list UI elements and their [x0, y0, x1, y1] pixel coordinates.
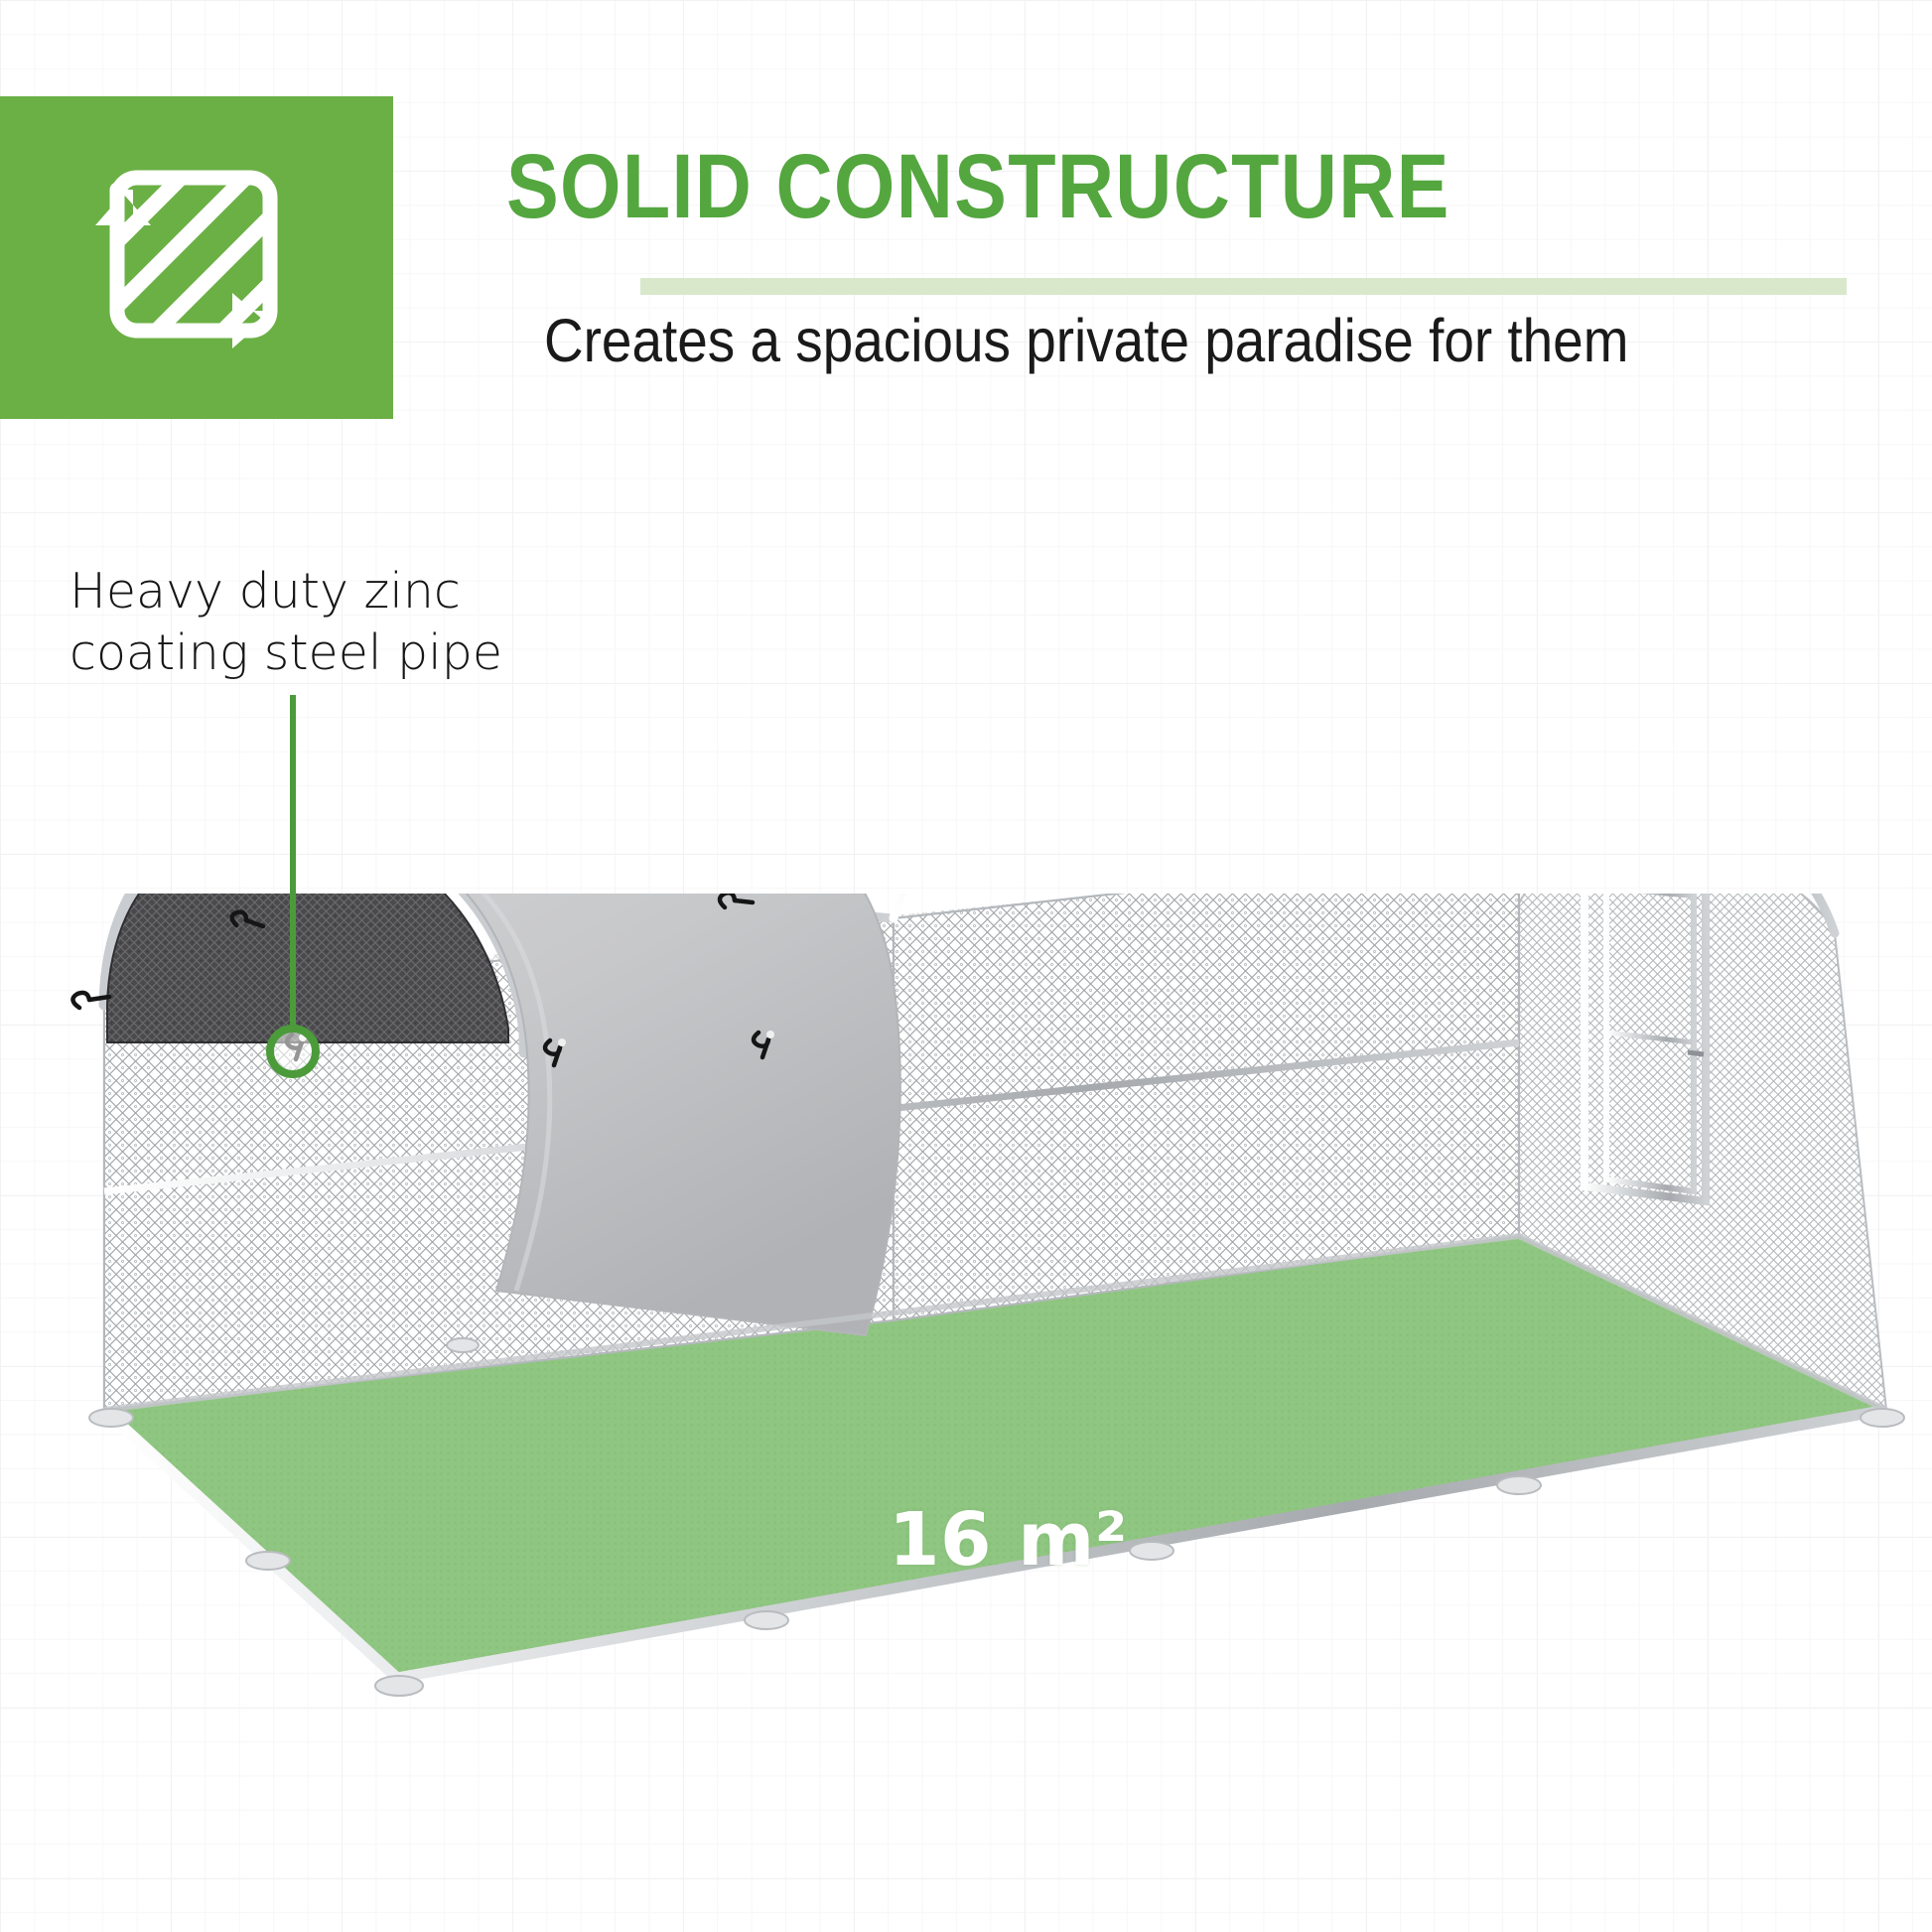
header-icon-block — [0, 96, 393, 419]
callout-circle-marker-icon — [266, 1025, 320, 1078]
front-end-panel — [107, 894, 508, 1042]
area-square-footage-icon — [83, 146, 310, 372]
page-title: SOLID CONSTRUCTURE — [506, 135, 1450, 239]
header-divider — [640, 278, 1847, 295]
page-subtitle: Creates a spacious private paradise for … — [544, 306, 1628, 375]
callout-label: Heavy duty zinc coating steel pipe — [69, 561, 502, 683]
floor-area-label: 16 m² — [889, 1497, 1128, 1583]
callout-leader-line — [290, 695, 296, 1033]
